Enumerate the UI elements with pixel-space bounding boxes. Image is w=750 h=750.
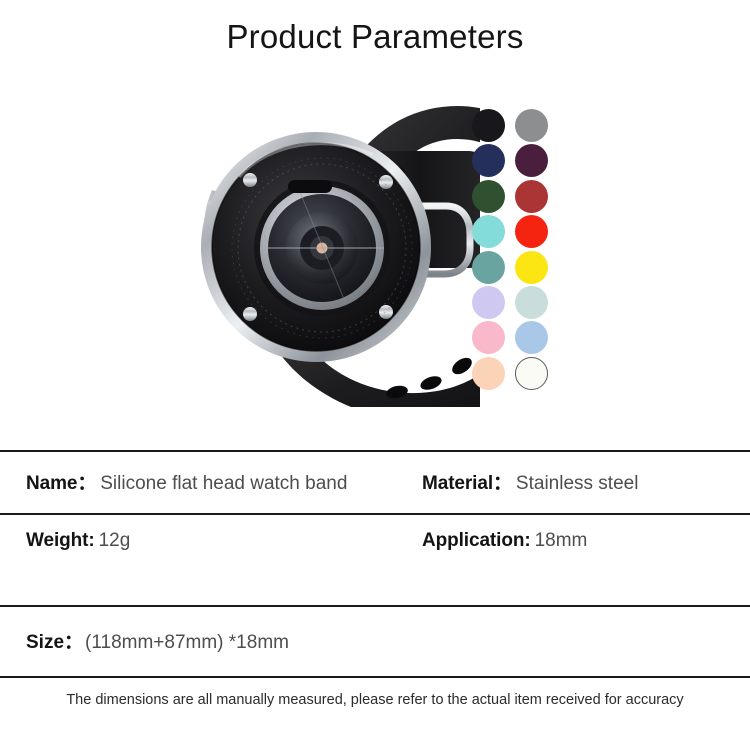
- swatch-peach[interactable]: [472, 357, 505, 390]
- divider-middle: [0, 513, 750, 515]
- swatch-pale-sage[interactable]: [515, 286, 548, 319]
- spec-material-value: Stainless steel: [516, 473, 639, 494]
- caseback-slot: [288, 180, 332, 193]
- product-image-area: [0, 72, 750, 442]
- spec-size: Size：(118mm+87mm) *18mm: [26, 633, 289, 652]
- watch-illustration: [150, 72, 480, 407]
- spec-weight-label: Weight:: [26, 530, 95, 551]
- spec-application-label: Application:: [422, 530, 531, 551]
- watch-product-photo: [150, 72, 480, 407]
- page-title: Product Parameters: [0, 18, 750, 56]
- spec-application-value: 18mm: [535, 530, 588, 551]
- swatch-brick-red[interactable]: [515, 180, 548, 213]
- swatch-black[interactable]: [472, 109, 505, 142]
- spec-weight-value: 12g: [99, 530, 131, 551]
- spec-material: Material：Stainless steel: [422, 474, 638, 493]
- swatch-yellow[interactable]: [515, 251, 548, 284]
- divider-size-top: [0, 605, 750, 607]
- swatch-dark-green[interactable]: [472, 180, 505, 213]
- swatch-turquoise[interactable]: [472, 215, 505, 248]
- spec-size-label: Size：: [26, 632, 83, 653]
- color-swatch-grid[interactable]: [472, 109, 572, 392]
- spec-name-value: Silicone flat head watch band: [100, 473, 347, 494]
- swatch-bright-red[interactable]: [515, 215, 548, 248]
- spec-application: Application:18mm: [422, 531, 587, 550]
- swatch-pink[interactable]: [472, 321, 505, 354]
- spec-size-value: (118mm+87mm) *18mm: [85, 632, 289, 653]
- swatch-dark-plum[interactable]: [515, 144, 548, 177]
- swatch-navy-blue[interactable]: [472, 144, 505, 177]
- swatch-lavender[interactable]: [472, 286, 505, 319]
- divider-top: [0, 450, 750, 452]
- swatch-white[interactable]: [515, 357, 548, 390]
- spec-material-label: Material：: [422, 473, 512, 494]
- spec-name: Name：Silicone flat head watch band: [26, 474, 347, 493]
- spec-name-label: Name：: [26, 473, 96, 494]
- swatch-light-blue[interactable]: [515, 321, 548, 354]
- measurement-footnote: The dimensions are all manually measured…: [0, 692, 750, 708]
- spec-weight: Weight:12g: [26, 531, 130, 550]
- swatch-teal-gray[interactable]: [472, 251, 505, 284]
- swatch-gray[interactable]: [515, 109, 548, 142]
- divider-footnote: [0, 676, 750, 678]
